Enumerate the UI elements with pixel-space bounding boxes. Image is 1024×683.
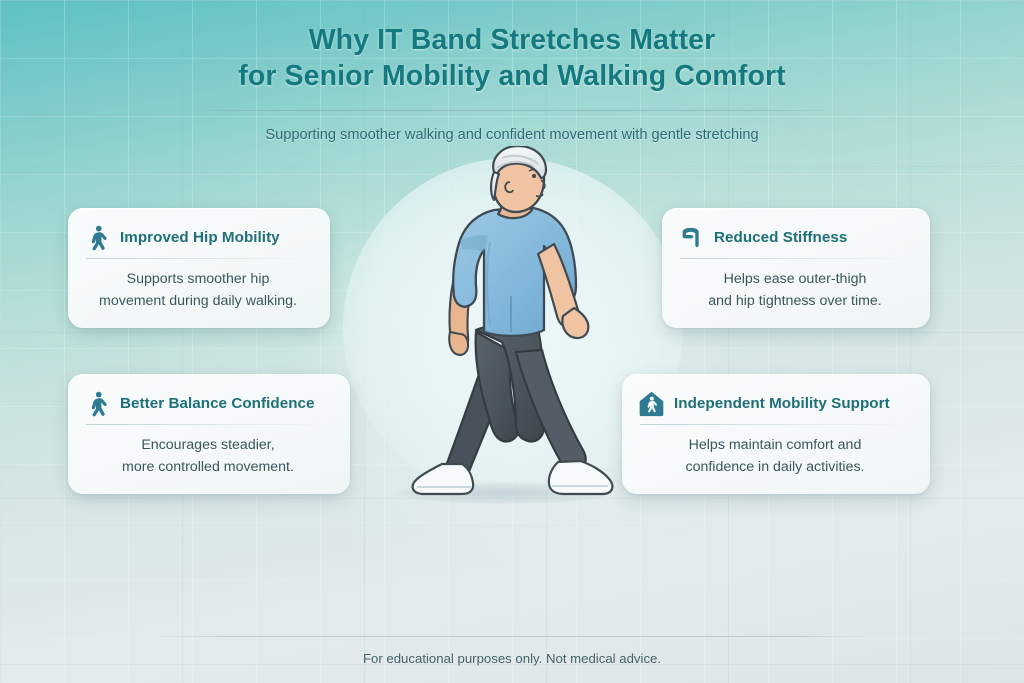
card-body: Supports smoother hip movement during da… <box>84 268 312 312</box>
title-divider <box>184 110 840 111</box>
walking-person-icon <box>84 390 111 417</box>
senior-woman-walking-illustration <box>398 146 628 498</box>
card-body-line-1: Encourages steadier, <box>84 434 332 456</box>
benefit-card-better-balance-confidence[interactable]: Better Balance Confidence Encourages ste… <box>68 374 350 494</box>
benefit-card-improved-hip-mobility[interactable]: Improved Hip Mobility Supports smoother … <box>68 208 330 328</box>
card-body-line-2: and hip tightness over time. <box>678 290 912 312</box>
muscle-band-icon <box>678 224 705 251</box>
card-body-line-2: confidence in daily activities. <box>638 456 912 478</box>
benefit-card-reduced-stiffness[interactable]: Reduced Stiffness Helps ease outer-thigh… <box>662 208 930 328</box>
page-title: Why IT Band Stretches Matter for Senior … <box>0 22 1024 94</box>
card-body-line-2: movement during daily walking. <box>84 290 312 312</box>
card-body-line-1: Helps ease outer-thigh <box>678 268 912 290</box>
card-header: Independent Mobility Support <box>638 390 912 417</box>
card-divider <box>640 424 910 425</box>
card-body: Encourages steadier, more controlled mov… <box>84 434 332 478</box>
card-divider <box>86 258 310 259</box>
footer: For educational purposes only. Not medic… <box>0 636 1024 666</box>
page-subtitle: Supporting smoother walking and confiden… <box>0 125 1024 145</box>
infographic-canvas: Why IT Band Stretches Matter for Senior … <box>0 0 1024 683</box>
page-title-line-1: Why IT Band Stretches Matter <box>309 24 716 56</box>
card-title: Improved Hip Mobility <box>120 229 280 246</box>
footer-divider <box>156 636 868 637</box>
footer-disclaimer: For educational purposes only. Not medic… <box>0 651 1024 666</box>
house-with-person-icon <box>638 390 665 417</box>
card-body: Helps maintain comfort and confidence in… <box>638 434 912 478</box>
card-divider <box>680 258 910 259</box>
card-body-line-1: Helps maintain comfort and <box>638 434 912 456</box>
card-title: Reduced Stiffness <box>714 229 847 246</box>
card-divider <box>86 424 330 425</box>
card-header: Reduced Stiffness <box>678 224 912 251</box>
card-title: Better Balance Confidence <box>120 395 315 412</box>
header: Why IT Band Stretches Matter for Senior … <box>0 22 1024 145</box>
card-title: Independent Mobility Support <box>674 395 890 412</box>
card-header: Improved Hip Mobility <box>84 224 312 251</box>
card-body-line-2: more controlled movement. <box>84 456 332 478</box>
card-body-line-1: Supports smoother hip <box>84 268 312 290</box>
card-body: Helps ease outer-thigh and hip tightness… <box>678 268 912 312</box>
page-title-line-2: for Senior Mobility and Walking Comfort <box>0 58 1024 94</box>
walking-person-icon <box>84 224 111 251</box>
benefit-card-independent-mobility-support[interactable]: Independent Mobility Support Helps maint… <box>622 374 930 494</box>
card-header: Better Balance Confidence <box>84 390 332 417</box>
